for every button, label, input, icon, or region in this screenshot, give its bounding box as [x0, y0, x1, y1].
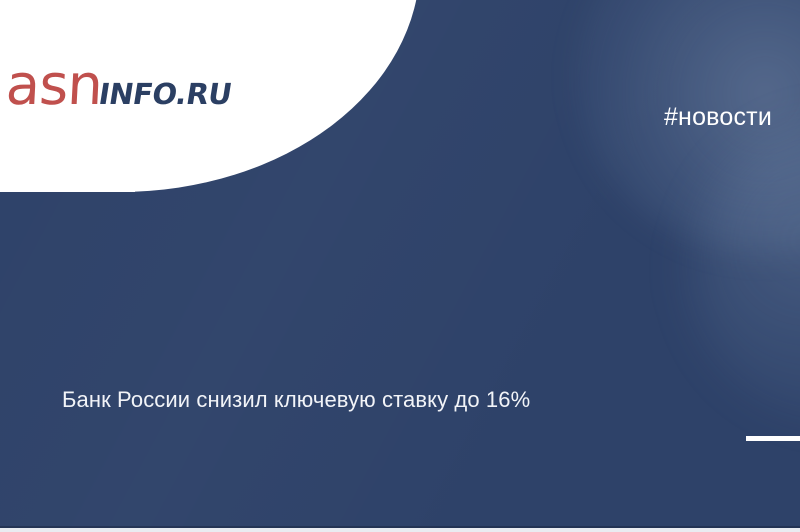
- logo-secondary-text: INFO.RU: [97, 80, 234, 109]
- bottom-strip: [0, 528, 800, 532]
- logo-primary-text: asn: [5, 58, 104, 114]
- site-logo[interactable]: asn INFO.RU: [6, 58, 231, 114]
- category-hashtag[interactable]: #новости: [664, 104, 772, 132]
- accent-rule: [746, 436, 800, 441]
- headline-text: Банк России снизил ключевую ставку до 16…: [62, 386, 742, 415]
- glow-highlight-secondary: [690, 120, 800, 420]
- news-card: asn INFO.RU #новости Банк России снизил …: [0, 0, 800, 532]
